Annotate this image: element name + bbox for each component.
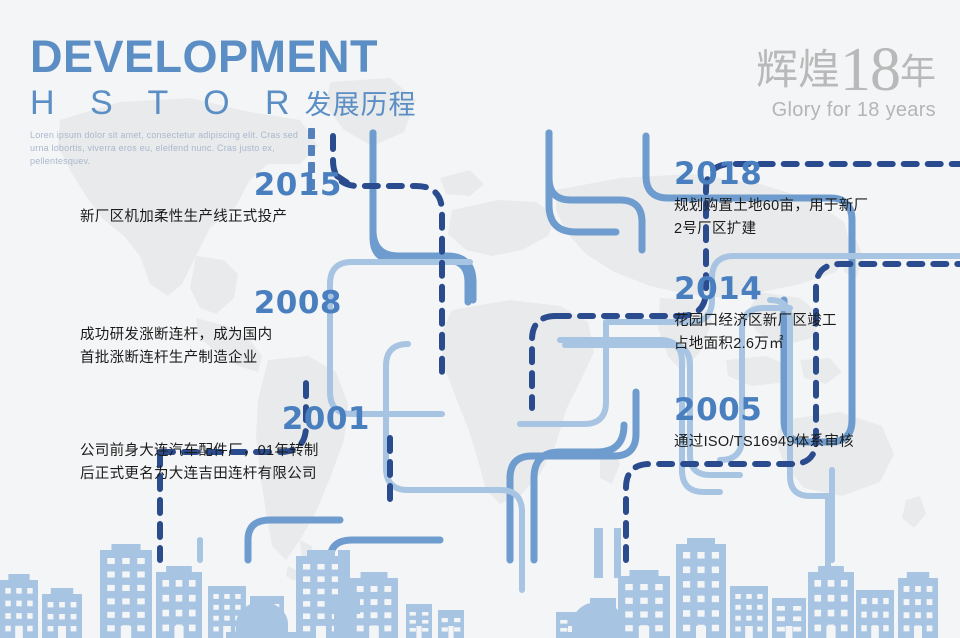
infographic-canvas: DEVELOPMENT H S T O R 发展历程 Loren ipsum d…	[0, 0, 960, 638]
header-lorem-text: Loren ipsum dolor sit amet, consectetur …	[30, 129, 318, 168]
timeline-year-2001: 2001	[80, 402, 370, 436]
timeline-entry-2001: 2001 公司前身大连汽车配件厂，01年转制 后正式更名为大连吉田连杆有限公司	[80, 402, 370, 486]
timeline-desc-2015: 新厂区机加柔性生产线正式投产	[80, 206, 342, 229]
timeline-desc-2014: 花园口经济区新厂区竣工 占地面积2.6万㎡	[674, 310, 924, 356]
city-skyline-footer	[0, 528, 960, 638]
timeline-desc-2001: 公司前身大连汽车配件厂，01年转制 后正式更名为大连吉田连杆有限公司	[80, 440, 370, 486]
timeline-entry-2005: 2005 通过ISO/TS16949体系审核	[674, 393, 934, 454]
timeline-desc-2008: 成功研发涨断连杆，成为国内 首批涨断连杆生产制造企业	[80, 324, 342, 370]
timeline-desc-2005: 通过ISO/TS16949体系审核	[674, 431, 934, 454]
glory-cn-suffix: 年	[900, 52, 936, 92]
timeline-year-2015: 2015	[80, 168, 342, 202]
timeline-year-2018: 2018	[674, 157, 924, 191]
timeline-year-2008: 2008	[80, 286, 342, 320]
page-subtitle-en: H S T O R	[30, 84, 303, 122]
timeline-desc-2018: 规划购置土地60亩，用于新厂 2号厂区扩建	[674, 195, 924, 241]
page-header: DEVELOPMENT H S T O R 发展历程 Loren ipsum d…	[30, 32, 450, 168]
glory-cn-number: 18	[840, 36, 900, 104]
timeline-year-2014: 2014	[674, 272, 924, 306]
glory-badge: 辉煌18年 Glory for 18 years	[636, 46, 936, 122]
page-title: DEVELOPMENT	[30, 32, 450, 82]
timeline-entry-2015: 2015 新厂区机加柔性生产线正式投产	[80, 168, 342, 229]
timeline-year-2005: 2005	[674, 393, 934, 427]
glory-en-line: Glory for 18 years	[636, 98, 936, 122]
timeline-entry-2008: 2008 成功研发涨断连杆，成为国内 首批涨断连杆生产制造企业	[80, 286, 342, 370]
page-subtitle-cn: 发展历程	[305, 86, 417, 124]
glory-cn-line: 辉煌18年	[636, 46, 936, 96]
glory-cn-prefix: 辉煌	[756, 48, 840, 94]
timeline-entry-2014: 2014 花园口经济区新厂区竣工 占地面积2.6万㎡	[674, 272, 924, 356]
page-subtitle: H S T O R 发展历程	[30, 84, 450, 124]
timeline-entry-2018: 2018 规划购置土地60亩，用于新厂 2号厂区扩建	[674, 157, 924, 241]
